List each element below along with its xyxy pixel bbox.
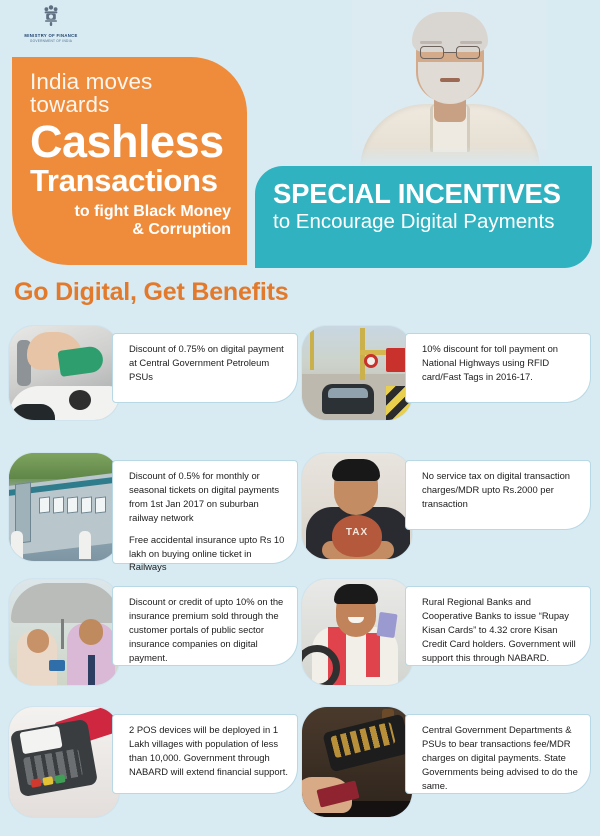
benefit-paragraph: 10% discount for toll payment on Nationa…: [422, 342, 581, 384]
infographic-poster: MINISTRY OF FINANCE GOVERNMENT OF INDIA …: [0, 0, 600, 836]
pos-terminal-with-card-photo: [8, 706, 120, 818]
special-incentives-banner: SPECIAL INCENTIVES to Encourage Digital …: [255, 166, 592, 268]
benefit-text-railways: Discount of 0.5% for monthly or seasonal…: [112, 460, 298, 564]
special-incentives-title: SPECIAL INCENTIVES: [273, 180, 578, 209]
suburban-train-photo: [8, 452, 120, 562]
highway-toll-plaza-photo: [301, 325, 413, 421]
farmer-with-card-photo: [301, 578, 413, 686]
benefit-text-insurance: Discount or credit of upto 10% on the in…: [112, 586, 298, 666]
benefit-paragraph: Free accidental insurance upto Rs 10 lak…: [129, 533, 288, 575]
benefit-text-kisan-cards: Rural Regional Banks and Cooperative Ban…: [405, 586, 591, 666]
emblem-ministry-label: MINISTRY OF FINANCE: [24, 33, 77, 38]
benefit-paragraph: Rural Regional Banks and Cooperative Ban…: [422, 595, 581, 665]
headline-transactions: Transactions: [30, 165, 231, 196]
headline-cashless: Cashless: [30, 120, 231, 164]
headline-line-5: & Corruption: [30, 221, 231, 239]
headline-banner-cashless: India moves towards Cashless Transaction…: [12, 57, 247, 265]
benefit-paragraph: Discount or credit of upto 10% on the in…: [129, 595, 288, 665]
benefit-paragraph: No service tax on digital transaction ch…: [422, 469, 581, 511]
benefit-paragraph: Central Government Departments & PSUs to…: [422, 723, 581, 793]
fuel-pump-photo: [8, 325, 120, 421]
tax-label: TAX: [332, 527, 382, 538]
national-emblem-icon: [40, 4, 62, 32]
card-swipe-at-counter-photo: [301, 706, 413, 818]
benefit-text-toll: 10% discount for toll payment on Nationa…: [405, 333, 591, 403]
benefit-text-petroleum: Discount of 0.75% on digital payment at …: [112, 333, 298, 403]
man-holding-tax-piggy-bank-photo: TAX: [301, 452, 413, 560]
two-men-under-umbrella-photo: [8, 578, 120, 686]
emblem-government-label: GOVERNMENT OF INDIA: [30, 39, 72, 43]
benefit-paragraph: Discount of 0.5% for monthly or seasonal…: [129, 469, 288, 525]
section-heading: Go Digital, Get Benefits: [14, 278, 288, 307]
headline-line-1: India moves towards: [30, 71, 231, 116]
ministry-emblem: MINISTRY OF FINANCE GOVERNMENT OF INDIA: [16, 4, 86, 50]
benefit-text-service-tax: No service tax on digital transaction ch…: [405, 460, 591, 530]
benefit-paragraph: Discount of 0.75% on digital payment at …: [129, 342, 288, 384]
special-incentives-subtitle: to Encourage Digital Payments: [273, 211, 578, 234]
benefit-text-mdr-charges: Central Government Departments & PSUs to…: [405, 714, 591, 794]
headline-line-4: to fight Black Money: [30, 203, 231, 221]
prime-minister-photo: [352, 0, 548, 172]
benefit-paragraph: 2 POS devices will be deployed in 1 Lakh…: [129, 723, 288, 779]
benefit-text-pos-devices: 2 POS devices will be deployed in 1 Lakh…: [112, 714, 298, 794]
